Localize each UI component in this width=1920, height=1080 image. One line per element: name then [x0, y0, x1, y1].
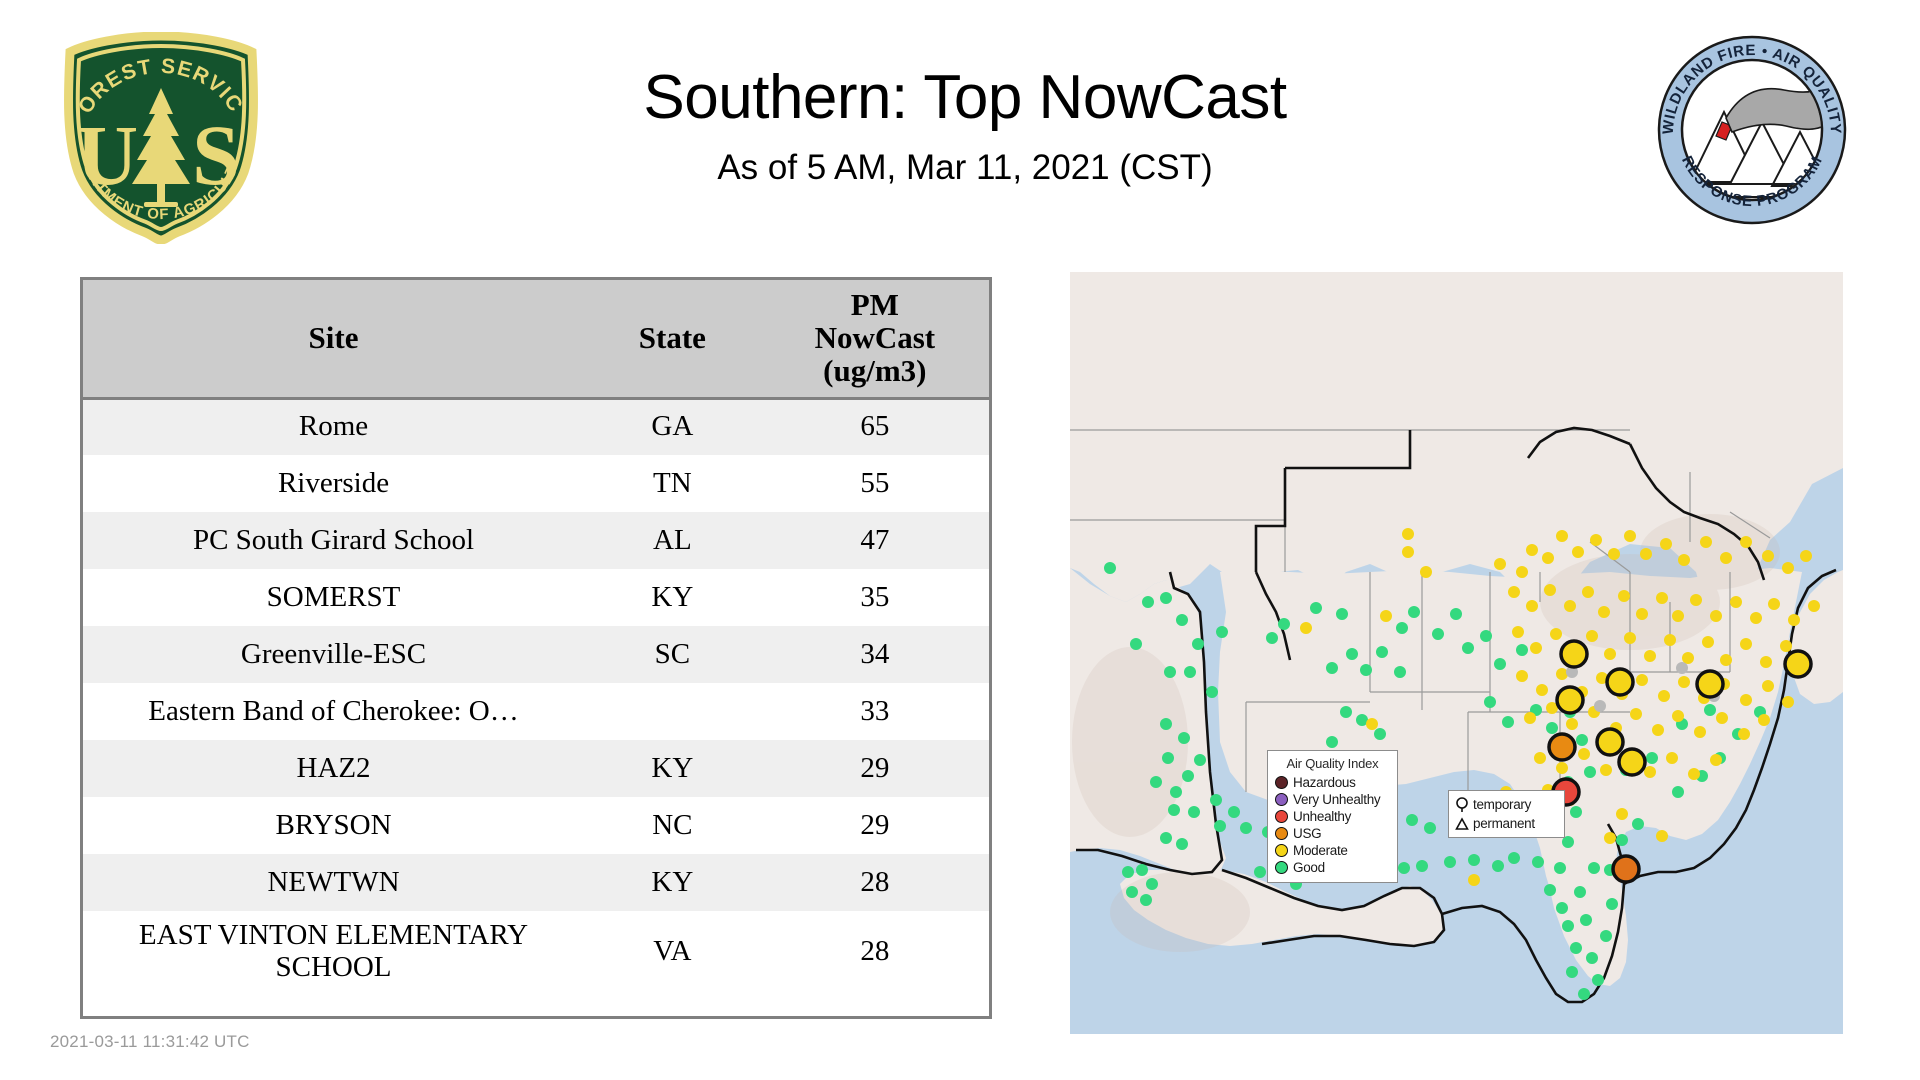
- pm-header-line-1: PM: [767, 289, 983, 322]
- cell-pm: 47: [761, 512, 989, 569]
- table-row: Greenville-ESC SC 34: [83, 626, 989, 683]
- aqi-legend-label: Unhealthy: [1293, 809, 1351, 824]
- table-row: SOMERST KY 35: [83, 569, 989, 626]
- footer-timestamp: 2021-03-11 11:31:42 UTC: [50, 1032, 250, 1052]
- cell-state: AL: [584, 512, 761, 569]
- cell-pm: 34: [761, 626, 989, 683]
- usg-swatch-icon: [1275, 827, 1288, 840]
- aqi-map[interactable]: Air Quality Index Hazardous Very Unhealt…: [1070, 272, 1843, 1034]
- cell-site: EAST VINTON ELEMENTARY SCHOOL: [83, 911, 584, 992]
- cell-state: KY: [584, 740, 761, 797]
- nowcast-table-container: Site State PM NowCast (ug/m3) Rome GA 65…: [80, 277, 992, 1019]
- cell-pm: 35: [761, 569, 989, 626]
- cell-site: NEWTWN: [83, 854, 584, 911]
- map-canvas: [1070, 272, 1843, 1034]
- table-header-row: Site State PM NowCast (ug/m3): [83, 280, 989, 398]
- cell-state: TN: [584, 455, 761, 512]
- table-row: EAST VINTON ELEMENTARY SCHOOL VA 28: [83, 911, 989, 992]
- cell-state: GA: [584, 398, 761, 455]
- top-site-marker: [1561, 641, 1587, 667]
- top-site-marker: [1619, 749, 1645, 775]
- table-row: NEWTWN KY 28: [83, 854, 989, 911]
- triangle-outline-icon: [1455, 816, 1469, 832]
- page-subtitle: As of 5 AM, Mar 11, 2021 (CST): [300, 148, 1630, 188]
- site-type-label: permanent: [1473, 816, 1535, 831]
- cell-pm: 28: [761, 911, 989, 992]
- cell-site: HAZ2: [83, 740, 584, 797]
- site-type-legend-item: permanent: [1455, 814, 1558, 833]
- cell-pm: 55: [761, 455, 989, 512]
- table-body: Rome GA 65 Riverside TN 55 PC South Gira…: [83, 398, 989, 992]
- pm-header-line-2: NowCast: [767, 322, 983, 355]
- cell-site: Eastern Band of Cherokee: O…: [83, 683, 584, 740]
- table-row: Riverside TN 55: [83, 455, 989, 512]
- very-unhealthy-swatch-icon: [1275, 793, 1288, 806]
- cell-state: VA: [584, 911, 761, 992]
- unhealthy-swatch-icon: [1275, 810, 1288, 823]
- site-type-label: temporary: [1473, 797, 1531, 812]
- cell-pm: 65: [761, 398, 989, 455]
- site-type-legend-item: temporary: [1455, 795, 1558, 814]
- cell-state: KY: [584, 569, 761, 626]
- cell-site: Greenville-ESC: [83, 626, 584, 683]
- top-site-marker: [1597, 729, 1623, 755]
- good-swatch-icon: [1275, 861, 1288, 874]
- column-header-state: State: [584, 280, 761, 398]
- cell-state: NC: [584, 797, 761, 854]
- aqi-legend-item: Unhealthy: [1275, 808, 1390, 825]
- nowcast-table: Site State PM NowCast (ug/m3) Rome GA 65…: [83, 280, 989, 992]
- circle-outline-icon: [1455, 797, 1469, 813]
- top-site-marker: [1607, 669, 1633, 695]
- top-site-marker: [1549, 734, 1575, 760]
- cell-pm: 28: [761, 854, 989, 911]
- aqi-legend-label: Moderate: [1293, 843, 1348, 858]
- aqi-legend-item: Good: [1275, 859, 1390, 876]
- table-row: Eastern Band of Cherokee: O… 33: [83, 683, 989, 740]
- site-type-legend: temporary permanent: [1448, 790, 1565, 838]
- aqi-legend-item: USG: [1275, 825, 1390, 842]
- aqi-legend-label: Hazardous: [1293, 775, 1356, 790]
- column-header-site: Site: [83, 280, 584, 398]
- aqi-legend: Air Quality Index Hazardous Very Unhealt…: [1267, 750, 1398, 883]
- table-row: PC South Girard School AL 47: [83, 512, 989, 569]
- cell-state: KY: [584, 854, 761, 911]
- slide-root: FOREST SERVICE U S DEPARTMENT OF AGRICUL…: [0, 0, 1920, 1080]
- aqi-legend-label: Very Unhealthy: [1293, 792, 1380, 807]
- cell-site: SOMERST: [83, 569, 584, 626]
- page-title: Southern: Top NowCast: [300, 62, 1630, 133]
- top-site-marker: [1557, 687, 1583, 713]
- table-row: BRYSON NC 29: [83, 797, 989, 854]
- cell-pm: 29: [761, 740, 989, 797]
- aqi-legend-label: USG: [1293, 826, 1321, 841]
- top-site-marker: [1697, 671, 1723, 697]
- cell-pm: 29: [761, 797, 989, 854]
- table-row: HAZ2 KY 29: [83, 740, 989, 797]
- top-site-marker: [1613, 856, 1639, 882]
- aqi-legend-item: Very Unhealthy: [1275, 791, 1390, 808]
- cell-pm: 33: [761, 683, 989, 740]
- cell-site: Riverside: [83, 455, 584, 512]
- wfaqrp-logo: WILDLAND FIRE • AIR QUALITY RESPONSE PRO…: [1652, 34, 1852, 226]
- cell-site: Rome: [83, 398, 584, 455]
- hazardous-swatch-icon: [1275, 776, 1288, 789]
- cell-state: SC: [584, 626, 761, 683]
- forest-service-logo: FOREST SERVICE U S DEPARTMENT OF AGRICUL…: [52, 32, 270, 244]
- aqi-legend-item: Hazardous: [1275, 774, 1390, 791]
- cell-state: [584, 683, 761, 740]
- top-site-marker: [1785, 651, 1811, 677]
- cell-site: PC South Girard School: [83, 512, 584, 569]
- aqi-legend-item: Moderate: [1275, 842, 1390, 859]
- table-row: Rome GA 65: [83, 398, 989, 455]
- pm-header-line-3: (ug/m3): [767, 355, 983, 388]
- column-header-pm-nowcast: PM NowCast (ug/m3): [761, 280, 989, 398]
- cell-site: BRYSON: [83, 797, 584, 854]
- moderate-swatch-icon: [1275, 844, 1288, 857]
- aqi-legend-label: Good: [1293, 860, 1325, 875]
- aqi-legend-title: Air Quality Index: [1275, 756, 1390, 771]
